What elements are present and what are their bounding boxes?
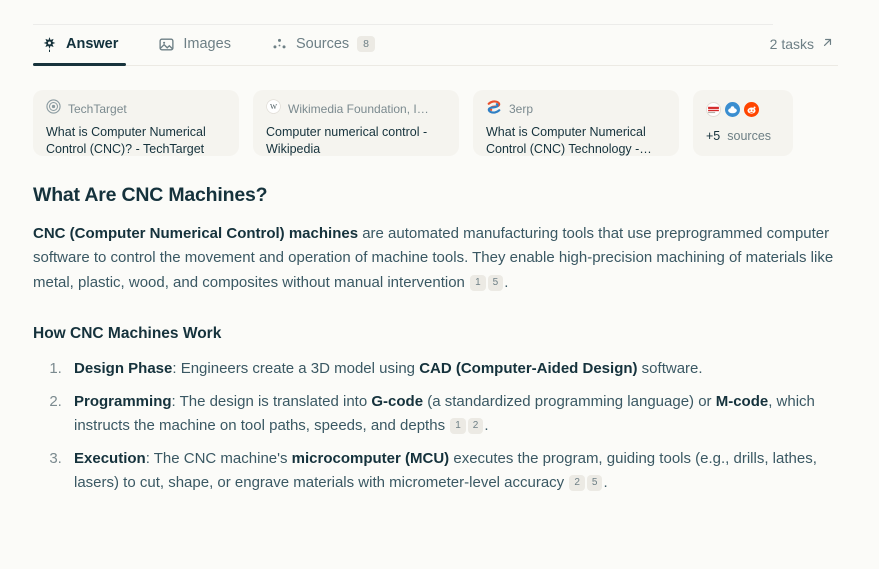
tab-bar: Answer Images Sources xyxy=(33,22,846,66)
step-tail: . xyxy=(484,417,488,434)
intro-lead: CNC (Computer Numerical Control) machine… xyxy=(33,225,358,242)
step-term-2: G-code xyxy=(371,393,423,410)
tab-answer-label: Answer xyxy=(66,36,118,52)
tab-answer[interactable]: Answer xyxy=(33,22,126,66)
wikipedia-favicon: W xyxy=(266,99,281,119)
source-title: What is Computer Numerical Control (CNC)… xyxy=(46,124,226,156)
citation-badge[interactable]: 2 xyxy=(569,475,585,491)
citation-badge[interactable]: 1 xyxy=(450,418,466,434)
source-card-header: W Wikimedia Foundation, I… xyxy=(266,101,446,117)
answer-content: What Are CNC Machines? CNC (Computer Num… xyxy=(33,184,846,496)
intro-tail: . xyxy=(504,274,508,291)
image-icon xyxy=(158,36,175,53)
source-card-wikipedia[interactable]: W Wikimedia Foundation, I… Computer nume… xyxy=(253,90,459,156)
tab-images[interactable]: Images xyxy=(150,22,239,66)
list-item: Programming: The design is translated in… xyxy=(66,390,846,439)
citation-badge[interactable]: 5 xyxy=(488,275,504,291)
page-title: What Are CNC Machines? xyxy=(33,184,846,207)
step-term: Design Phase xyxy=(74,360,172,377)
dots-cluster-icon xyxy=(271,36,288,53)
reddit-favicon xyxy=(744,102,759,117)
techtarget-favicon xyxy=(46,99,61,119)
citation-badge[interactable]: 5 xyxy=(587,475,603,491)
more-sources-text: sources xyxy=(727,129,771,143)
intro-paragraph: CNC (Computer Numerical Control) machine… xyxy=(33,222,846,295)
tab-sources-label: Sources xyxy=(296,36,349,52)
sources-count-badge: 8 xyxy=(357,36,375,53)
citation-badge[interactable]: 1 xyxy=(470,275,486,291)
steps-list: Design Phase: Engineers create a 3D mode… xyxy=(33,357,846,495)
source-domain: TechTarget xyxy=(68,102,127,116)
step-term-3: M-code xyxy=(716,393,769,410)
source-card-techtarget[interactable]: TechTarget What is Computer Numerical Co… xyxy=(33,90,239,156)
step-term: Programming xyxy=(74,393,172,410)
step-text: : The CNC machine's xyxy=(146,450,292,467)
source-title: What is Computer Numerical Control (CNC)… xyxy=(486,124,666,156)
svg-text:W: W xyxy=(270,102,278,111)
source-domain: 3erp xyxy=(509,102,533,116)
more-sources-favicons xyxy=(706,101,780,117)
step-tail: . xyxy=(603,474,607,491)
source-domain: Wikimedia Foundation, I… xyxy=(288,102,429,116)
source-cards: TechTarget What is Computer Numerical Co… xyxy=(33,90,846,156)
list-item: Execution: The CNC machine's microcomput… xyxy=(66,447,846,496)
more-sources-card[interactable]: +5 sources xyxy=(693,90,793,156)
step-term-2: microcomputer (MCU) xyxy=(292,450,450,467)
step-text-2: software. xyxy=(638,360,703,377)
tasks-label: 2 tasks xyxy=(770,36,814,52)
more-sources-label: +5 sources xyxy=(706,129,780,143)
blue-globe-favicon xyxy=(725,102,740,117)
subsection-title: How CNC Machines Work xyxy=(33,325,846,343)
step-text: : Engineers create a 3D model using xyxy=(172,360,419,377)
citation-badge[interactable]: 2 xyxy=(468,418,484,434)
source-card-header: TechTarget xyxy=(46,101,226,117)
step-text-2: (a standardized programming language) or xyxy=(423,393,716,410)
news-favicon xyxy=(706,102,721,117)
answer-page: Answer Images Sources xyxy=(0,22,879,496)
more-sources-count: +5 xyxy=(706,129,720,143)
tab-sources[interactable]: Sources 8 xyxy=(263,22,383,66)
step-term: Execution xyxy=(74,450,146,467)
list-item: Design Phase: Engineers create a 3D mode… xyxy=(66,357,846,381)
arrow-up-right-icon xyxy=(821,36,834,52)
step-text: : The design is translated into xyxy=(172,393,372,410)
tab-images-label: Images xyxy=(183,36,231,52)
3erp-favicon xyxy=(486,99,502,120)
source-title: Computer numerical control - Wikipedia xyxy=(266,124,446,156)
source-card-header: 3erp xyxy=(486,101,666,117)
tasks-button[interactable]: 2 tasks xyxy=(770,36,846,52)
step-term-2: CAD (Computer-Aided Design) xyxy=(419,360,637,377)
sparkle-icon xyxy=(41,36,58,53)
source-card-3erp[interactable]: 3erp What is Computer Numerical Control … xyxy=(473,90,679,156)
